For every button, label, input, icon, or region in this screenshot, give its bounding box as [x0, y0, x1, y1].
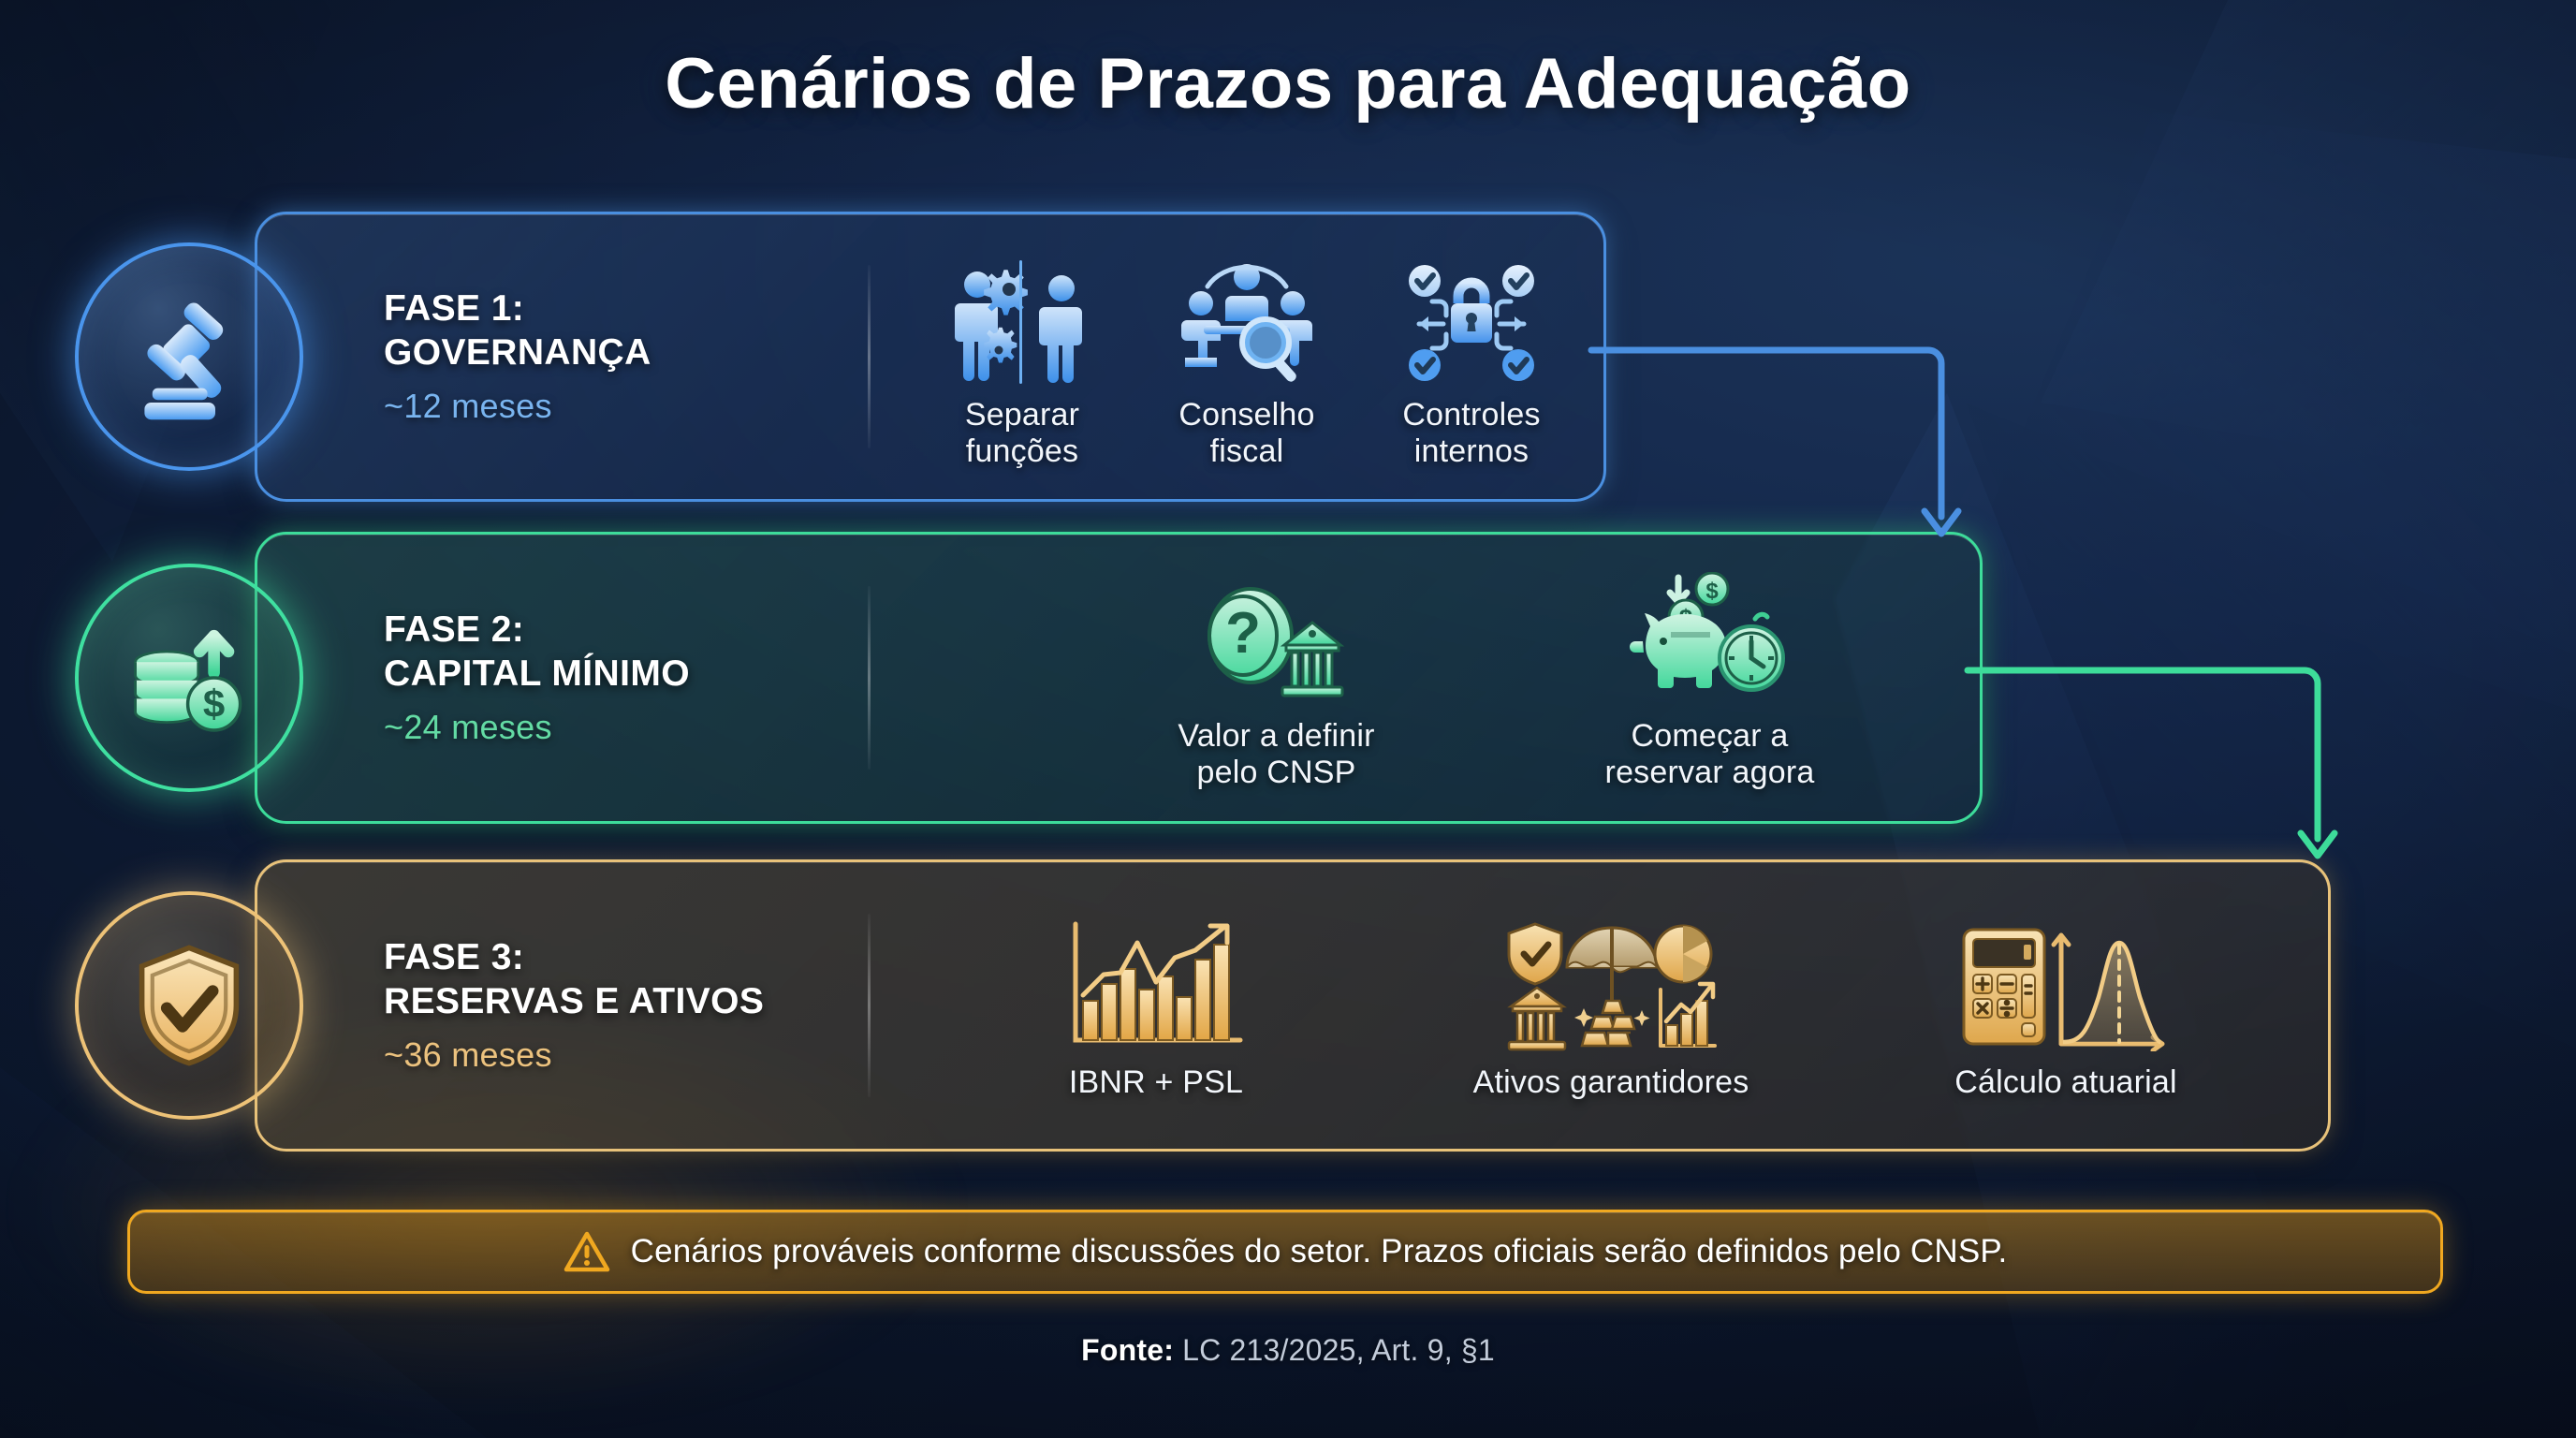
phase-3-labels: FASE 3: RESERVAS E ATIVOS ~36 meses	[384, 936, 833, 1075]
label-line-2: funções	[965, 433, 1079, 470]
phase-3-item-2-label: Ativos garantidores	[1473, 1064, 1749, 1101]
phase-1-item-1: Separar funções	[910, 243, 1134, 470]
coins-arrow-dollar-icon: $	[124, 612, 255, 743]
phase-2-item-2: $ $ Começar	[1570, 565, 1851, 791]
phase-3-item-1: IBNR + PSL	[969, 911, 1343, 1101]
phase2-to-phase3-arrow	[1968, 667, 2361, 874]
phase-3-item-1-label: IBNR + PSL	[1069, 1064, 1243, 1101]
phase-1-item-2-label: Conselho fiscal	[1178, 397, 1314, 470]
footer-source: Fonte: LC 213/2025, Art. 9, §1	[0, 1333, 2576, 1368]
phase-3-item-2: Ativos garantidores	[1424, 911, 1798, 1101]
board-meeting-magnifier-icon	[1172, 243, 1322, 384]
phase-3-name-line1: FASE 3:	[384, 936, 833, 980]
label-line-1: Conselho	[1178, 397, 1314, 433]
phase-3-items: IBNR + PSL	[929, 859, 2293, 1152]
phase-2-labels: FASE 2: CAPITAL MÍNIMO ~24 meses	[384, 609, 833, 747]
phase-2-item-1-label: Valor a definir pelo CNSP	[1178, 718, 1374, 791]
phase-2-badge: $	[75, 564, 303, 792]
label-line-1: Cálculo atuarial	[1954, 1064, 2177, 1101]
phase-row-3: FASE 3: RESERVAS E ATIVOS ~36 meses	[255, 859, 2331, 1152]
label-line-1: Ativos garantidores	[1473, 1064, 1749, 1101]
phase-1-item-2: Conselho fiscal	[1134, 243, 1359, 470]
phase-1-item-3-label: Controles internos	[1402, 397, 1540, 470]
footer-text: LC 213/2025, Art. 9, §1	[1182, 1333, 1495, 1367]
phase-2-items: ? Valor a definir pelo CNSP	[1060, 532, 1926, 824]
phase-3-divider	[868, 914, 871, 1097]
label-line-1: Controles	[1402, 397, 1540, 433]
phase-3-name-line2: RESERVAS E ATIVOS	[384, 980, 833, 1024]
phase-3-badge	[75, 891, 303, 1120]
calculator-bellcurve-icon	[1958, 911, 2173, 1051]
svg-text:$: $	[1705, 579, 1719, 604]
phase-1-labels: FASE 1: GOVERNANÇA ~12 meses	[384, 287, 833, 426]
gavel-icon	[124, 291, 255, 422]
label-line-2: internos	[1402, 433, 1540, 470]
note-text: Cenários prováveis conforme discussões d…	[631, 1233, 2008, 1270]
phase-1-items: Separar funções	[910, 212, 1584, 502]
page-title: Cenários de Prazos para Adequação	[0, 43, 2576, 125]
label-line-2: reservar agora	[1605, 755, 1815, 791]
phase-3-item-3-label: Cálculo atuarial	[1954, 1064, 2177, 1101]
phase-row-1: FASE 1: GOVERNANÇA ~12 meses	[255, 212, 1606, 502]
lock-checkmarks-icon	[1397, 243, 1546, 384]
phase-1-item-1-label: Separar funções	[965, 397, 1079, 470]
shield-check-icon	[124, 940, 255, 1071]
svg-text:?: ?	[1225, 601, 1261, 666]
phase-3-duration: ~36 meses	[384, 1035, 833, 1075]
phase-1-badge	[75, 242, 303, 471]
phase-row-2: $ FASE 2: CAPITAL MÍNIMO ~24 meses ?	[255, 532, 1983, 824]
phase-1-divider	[868, 265, 871, 448]
bar-chart-trend-icon	[1062, 911, 1250, 1051]
label-line-1: Começar a	[1605, 718, 1815, 755]
label-line-1: IBNR + PSL	[1069, 1064, 1243, 1101]
label-line-2: pelo CNSP	[1178, 755, 1374, 791]
phase1-to-phase2-arrow	[1591, 346, 1984, 552]
label-line-1: Valor a definir	[1178, 718, 1374, 755]
piggy-bank-clock-icon: $ $	[1617, 565, 1804, 705]
phase-2-name-line2: CAPITAL MÍNIMO	[384, 653, 833, 697]
phase-2-duration: ~24 meses	[384, 708, 833, 747]
phase-2-name-line1: FASE 2:	[384, 609, 833, 653]
label-line-1: Separar	[965, 397, 1079, 433]
phase-1-name-line2: GOVERNANÇA	[384, 331, 833, 375]
svg-text:$: $	[203, 682, 225, 726]
question-coin-bank-icon: ?	[1183, 565, 1370, 705]
phase-1-name-line1: FASE 1:	[384, 287, 833, 331]
phase-2-item-1: ? Valor a definir pelo CNSP	[1136, 565, 1417, 791]
note-banner: Cenários prováveis conforme discussões d…	[127, 1210, 2443, 1294]
phase-1-duration: ~12 meses	[384, 387, 833, 426]
label-line-2: fiscal	[1178, 433, 1314, 470]
people-gears-divided-icon	[947, 243, 1097, 384]
phase-2-divider	[868, 586, 871, 770]
phase-2-item-2-label: Começar a reservar agora	[1605, 718, 1815, 791]
warning-triangle-icon	[563, 1230, 610, 1273]
footer-prefix: Fonte:	[1081, 1333, 1174, 1367]
phase-1-item-3: Controles internos	[1359, 243, 1584, 470]
assets-umbrella-gold-icon	[1503, 911, 1719, 1051]
phase-3-item-3: Cálculo atuarial	[1879, 911, 2253, 1101]
